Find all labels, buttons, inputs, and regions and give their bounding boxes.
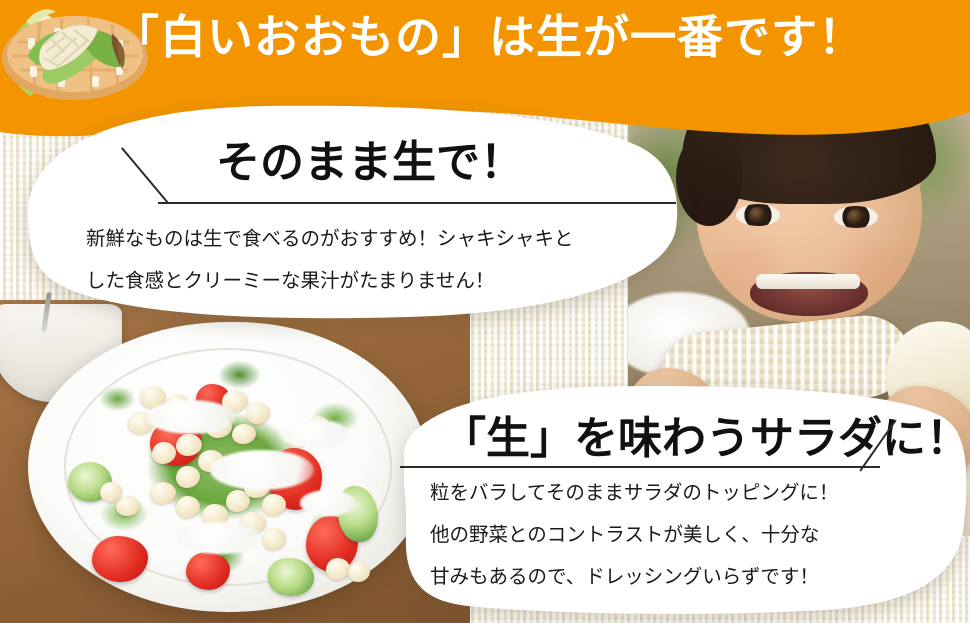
speech-bubble-raw [8,104,680,320]
tomato-piece [186,552,230,590]
boy-eye [736,204,780,226]
corn-salad-photo [0,300,470,623]
bubble-shape [8,104,680,320]
tomato-piece [92,536,148,582]
bubble-shape [404,384,970,614]
cucumber-slice [268,558,314,596]
speech-bubble-salad [404,384,970,614]
page-root: 「白いおおもの」は生が一番です！ そのまま生で！ 新鮮なものは生で食べるのがおす… [0,0,970,623]
header-title: 「白いおおもの」は生が一番です！ [0,6,970,68]
boy-mouth [750,272,868,316]
boy-eye [834,206,878,228]
